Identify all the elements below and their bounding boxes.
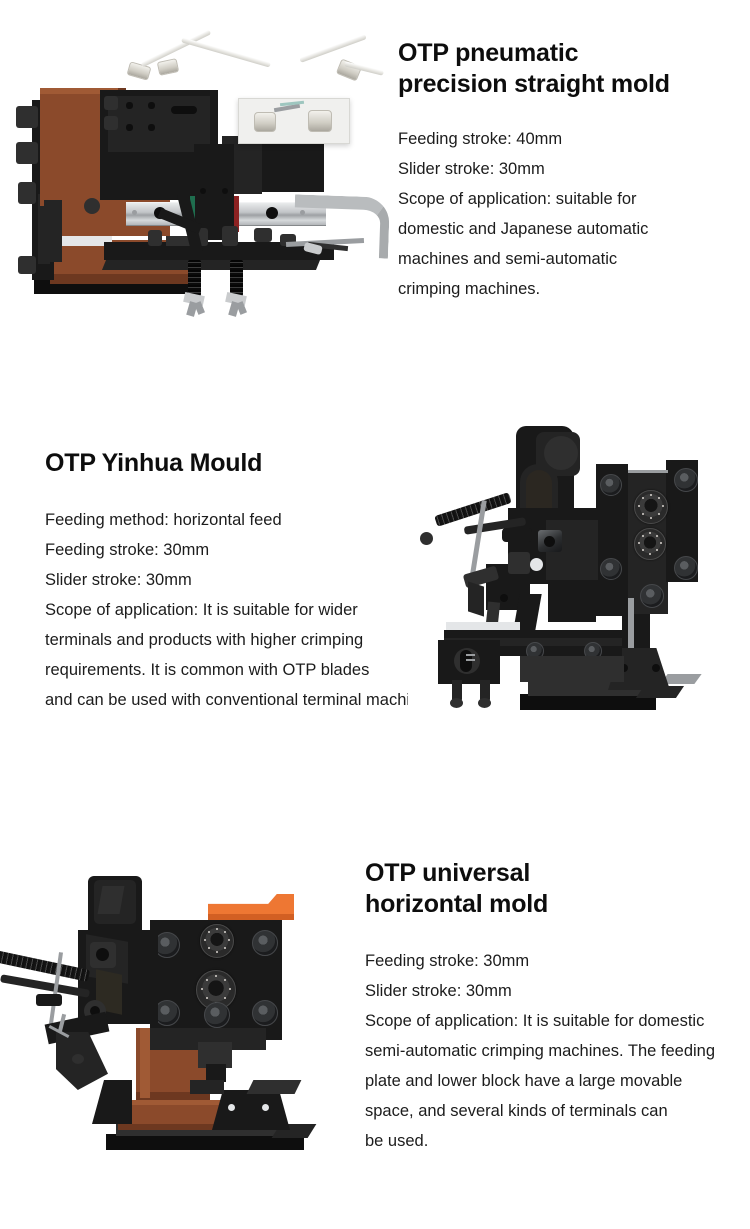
spec-feeding-stroke: Feeding stroke: 40mm — [398, 124, 742, 154]
spec-slider-stroke: Slider stroke: 30mm — [365, 976, 743, 1006]
text-block-universal: OTP universal horizontal mold Feeding st… — [365, 858, 743, 1156]
dial-wheel-upper — [634, 490, 668, 524]
product-image-universal — [0, 842, 340, 1172]
product-section-universal: OTP universal horizontal mold Feeding st… — [0, 820, 750, 1229]
spec-scope-of-application: Scope of application: It is suitable for… — [365, 1006, 743, 1156]
spec-slider-stroke: Slider stroke: 30mm — [398, 154, 742, 184]
product-section-yinhua: OTP Yinhua Mould Feeding method: horizon… — [0, 400, 750, 820]
dial-wheel-lower — [634, 528, 666, 560]
text-block-pneumatic: OTP pneumatic precision straight mold Fe… — [398, 38, 742, 304]
product-title: OTP universal horizontal mold — [365, 858, 743, 920]
product-image-pneumatic — [8, 44, 380, 314]
spec-feeding-stroke: Feeding stroke: 30mm — [365, 946, 743, 976]
spec-scope-of-application: Scope of application: suitable for domes… — [398, 184, 742, 304]
dial-wheel-upper — [200, 924, 234, 958]
product-image-yinhua — [408, 412, 720, 732]
product-title: OTP pneumatic precision straight mold — [398, 38, 742, 100]
product-section-pneumatic: OTP pneumatic precision straight mold Fe… — [0, 0, 750, 400]
